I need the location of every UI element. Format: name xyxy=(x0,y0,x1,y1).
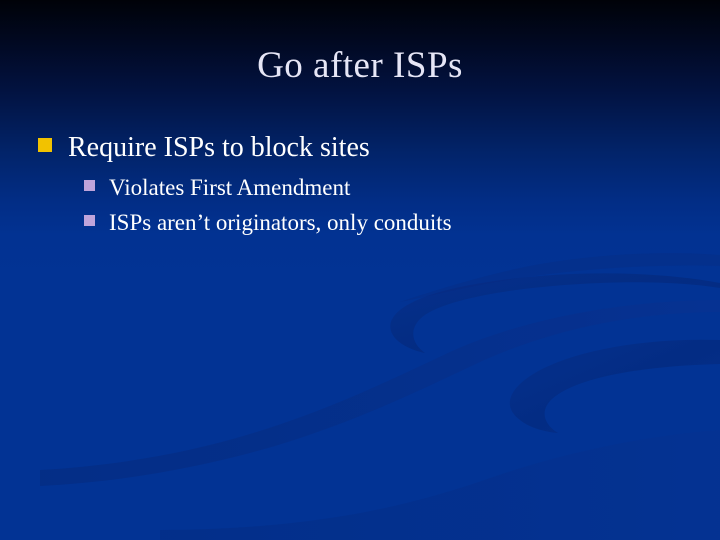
slide-body-placeholder: Require ISPs to block sites Violates Fir… xyxy=(38,130,688,242)
list-item: ISPs aren’t originators, only conduits xyxy=(84,207,688,239)
slide-title-placeholder: Go after ISPs xyxy=(0,44,720,88)
square-bullet-lavender-icon xyxy=(84,215,95,226)
bullet-level2-text: ISPs aren’t originators, only conduits xyxy=(109,207,452,239)
bullet-level2-text: Violates First Amendment xyxy=(109,172,350,204)
square-bullet-gold-icon xyxy=(38,138,52,152)
sub-bullet-list: Violates First Amendment ISPs aren’t ori… xyxy=(84,172,688,239)
bullet-level1-text: Require ISPs to block sites xyxy=(68,130,370,166)
page-title: Go after ISPs xyxy=(257,44,463,88)
list-item: Require ISPs to block sites xyxy=(38,130,688,166)
list-item: Violates First Amendment xyxy=(84,172,688,204)
square-bullet-lavender-icon xyxy=(84,180,95,191)
presentation-slide: Go after ISPs Require ISPs to block site… xyxy=(0,0,720,540)
